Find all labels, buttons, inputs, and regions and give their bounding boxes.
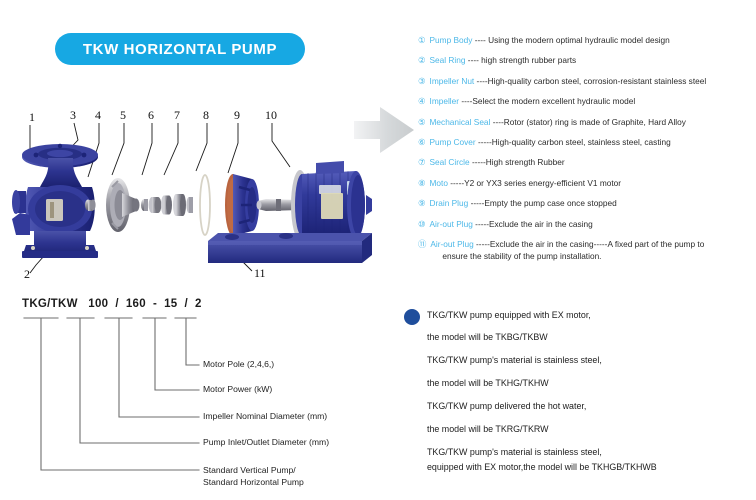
legend-number: ① [418, 34, 426, 46]
model-label-impeller-diameter: Impeller Nominal Diameter (mm) [203, 411, 327, 421]
legend-separator: ----- [448, 178, 464, 188]
legend-number: ⑧ [418, 177, 426, 189]
legend-item: ⑨ Drain Plug -----Empty the pump case on… [418, 197, 756, 217]
legend-separator: ---- [466, 55, 482, 65]
note-line: TKG/TKW pump's material is stainless ste… [427, 355, 602, 365]
legend-description: High-quality carbon steel, stainless ste… [492, 137, 671, 147]
legend-number: ⑥ [418, 136, 426, 148]
page-title-banner: TKW HORIZONTAL PUMP [55, 33, 305, 65]
legend-part-name: Mechanical Seal [430, 117, 491, 127]
arrow-right-icon [352, 95, 422, 165]
impeller-nut-part [85, 200, 96, 212]
callout-number-10: 10 [265, 108, 277, 122]
legend-number: ⑩ [418, 218, 426, 230]
mechanical-seal-stack [141, 194, 193, 216]
exploded-pump-diagram: 1 3 4 5 6 7 8 9 10 2 11 [0, 95, 400, 290]
legend-description: Y2 or YX3 series energy-efficient V1 mot… [464, 178, 621, 188]
callout-number-8: 8 [203, 108, 209, 122]
legend-number: ② [418, 54, 426, 66]
legend-separator: ----- [474, 239, 490, 249]
note-line: TKG/TKW pump delivered the hot water, [427, 401, 586, 411]
legend-description: Empty the pump case once stopped [484, 198, 616, 208]
note-line: the model will be TKRG/TKRW [427, 424, 549, 434]
callout-number-3: 3 [70, 108, 76, 122]
pump-spec-sheet: TKW HORIZONTAL PUMP [0, 0, 756, 500]
legend-separator: ----- [476, 137, 492, 147]
model-label-motor-power: Motor Power (kW) [203, 384, 272, 394]
note-line: TKG/TKW pump's material is stainless ste… [427, 447, 602, 457]
legend-description: High-quality carbon steel, corrosion-res… [488, 76, 707, 86]
callout-number-1: 1 [29, 110, 35, 124]
legend-item: ① Pump Body ---- Using the modern optima… [418, 34, 756, 54]
parts-legend-list: ① Pump Body ---- Using the modern optima… [418, 34, 756, 262]
legend-number: ⑦ [418, 156, 426, 168]
model-label-standard-pump: Standard Vertical Pump/ Standard Horizon… [203, 464, 304, 488]
legend-part-name: Pump Cover [430, 137, 476, 147]
legend-separator: ---- [459, 96, 472, 106]
legend-separator: ---- [472, 35, 488, 45]
legend-part-name: Seal Ring [430, 55, 466, 65]
legend-item: ② Seal Ring ---- high strength rubber pa… [418, 54, 756, 74]
legend-separator: ---- [490, 117, 503, 127]
legend-part-name: Drain Plug [430, 198, 469, 208]
callout-number-5: 5 [120, 108, 126, 122]
pump-body-part [12, 144, 98, 258]
callout-number-11: 11 [254, 266, 266, 280]
legend-part-name: Air-out Plug [430, 219, 473, 229]
note-line: the model will be TKHG/TKHW [427, 378, 549, 388]
note-line: TKG/TKW pump equipped with EX motor, [427, 310, 591, 320]
model-bracket-lines [0, 295, 400, 500]
bullet-point-icon [404, 309, 420, 325]
motor-part [257, 161, 373, 240]
legend-number: ⑪ [418, 238, 426, 250]
legend-separator: ----- [470, 157, 486, 167]
callout-number-2: 2 [24, 267, 30, 281]
legend-description: Exclude the air in the casing-----A fixe… [490, 239, 704, 249]
legend-part-name: Impeller Nut [430, 76, 475, 86]
legend-description: Rotor (stator) ring is made of Graphite,… [504, 117, 686, 127]
legend-part-name: Moto [430, 178, 448, 188]
legend-description: Exclude the air in the casing [489, 219, 593, 229]
legend-item: ③ Impeller Nut ----High-quality carbon s… [418, 75, 756, 95]
callout-number-4: 4 [95, 108, 101, 122]
legend-part-name: Impeller [430, 96, 460, 106]
legend-description: high strength rubber parts [481, 55, 576, 65]
legend-number: ⑤ [418, 116, 426, 128]
callout-number-6: 6 [148, 108, 154, 122]
legend-part-name: Air-out Plug [430, 239, 473, 249]
pump-cover-part [225, 174, 259, 236]
page-title: TKW HORIZONTAL PUMP [83, 41, 277, 58]
model-label-motor-pole: Motor Pole (2,4,6,) [203, 359, 274, 369]
legend-item: ⑪ Air-out Plug -----Exclude the air in t… [418, 238, 756, 262]
legend-item: ⑧ Moto -----Y2 or YX3 series energy-effi… [418, 177, 756, 197]
legend-description-continued: ensure the stability of the pump install… [430, 250, 704, 262]
model-label-inlet-outlet-diameter: Pump Inlet/Outlet Diameter (mm) [203, 437, 329, 447]
legend-separator: ----- [468, 198, 484, 208]
impeller-part [106, 178, 140, 232]
model-designation-diagram: TKG/TKW 100 / 160 - 15 / 2 [0, 295, 400, 500]
legend-number: ③ [418, 75, 426, 87]
legend-item: ⑦ Seal Circle -----High strength Rubber [418, 156, 756, 176]
legend-description: Select the modern excellent hydraulic mo… [472, 96, 635, 106]
note-line: equipped with EX motor,the model will be… [427, 462, 657, 472]
legend-separator: ---- [474, 76, 487, 86]
base-plate-part [208, 233, 372, 263]
legend-item: ⑥ Pump Cover -----High-quality carbon st… [418, 136, 756, 156]
legend-part-name: Pump Body [430, 35, 473, 45]
legend-description: High strength Rubber [486, 157, 565, 167]
legend-part-name: Seal Circle [430, 157, 470, 167]
legend-description: Using the modern optimal hydraulic model… [488, 35, 670, 45]
legend-item: ⑩ Air-out Plug -----Exclude the air in t… [418, 218, 756, 238]
legend-separator: ----- [473, 219, 489, 229]
note-line: the model will be TKBG/TKBW [427, 332, 548, 342]
callout-number-7: 7 [174, 108, 180, 122]
legend-item: ④ Impeller ----Select the modern excelle… [418, 95, 756, 115]
callout-number-9: 9 [234, 108, 240, 122]
legend-item: ⑤ Mechanical Seal ----Rotor (stator) rin… [418, 116, 756, 136]
seal-ring-part [200, 175, 210, 235]
legend-number: ⑨ [418, 197, 426, 209]
legend-number: ④ [418, 95, 426, 107]
model-variant-notes: TKG/TKW pump equipped with EX motor, the… [400, 300, 756, 500]
